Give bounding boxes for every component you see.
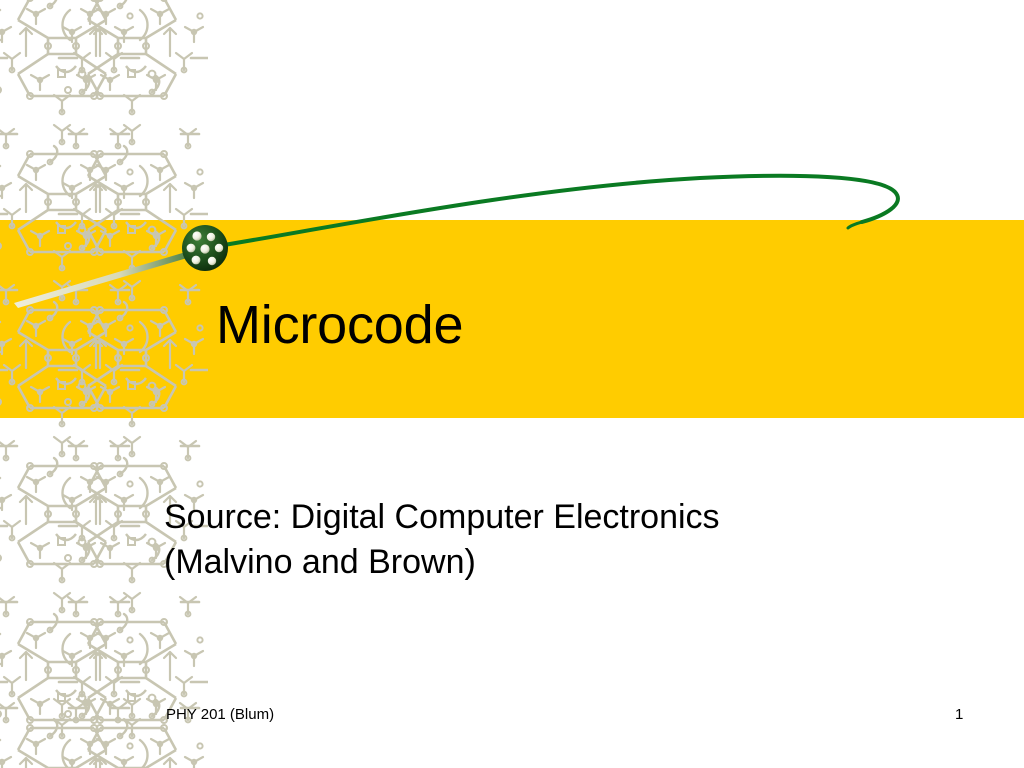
subtitle-line-1: Source: Digital Computer Electronics [164, 495, 864, 540]
subtitle-line-2: (Malvino and Brown) [164, 540, 864, 585]
slide-page-number: 1 [955, 706, 995, 724]
presentation-slide: Microcode Source: Digital Computer Elect… [0, 0, 1024, 768]
footer-course-label: PHY 201 (Blum) [166, 706, 274, 724]
page-title: Microcode [216, 296, 463, 354]
slide-subtitle: Source: Digital Computer Electronics (Ma… [164, 495, 864, 585]
green-cluster-sphere [181, 224, 229, 272]
title-band [0, 220, 1024, 418]
